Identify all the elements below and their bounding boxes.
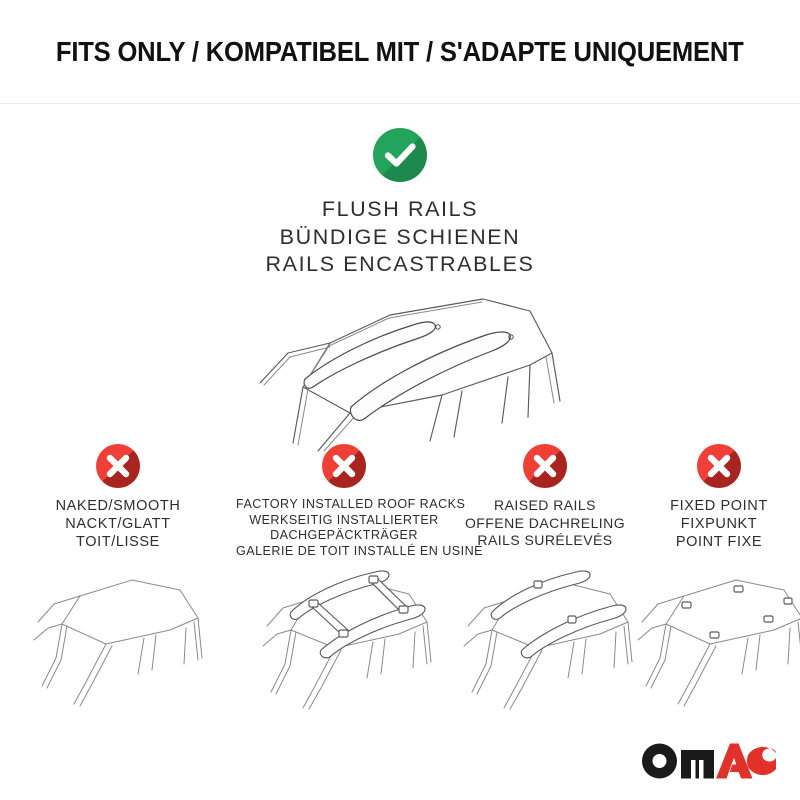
item-labels: FACTORY INSTALLED ROOF RACKS WERKSEITIG … <box>236 497 452 560</box>
item-labels: NAKED/SMOOTH NACKT/GLATT TOIT/LISSE <box>0 497 236 551</box>
car-roof-fixed-point-illustration <box>638 562 800 717</box>
omac-logo-letter-o <box>642 744 677 779</box>
incompatible-item-fixed-point: FIXED POINT FIXPUNKT POINT FIXE <box>638 444 800 560</box>
item-labels: RAISED RAILS OFFENE DACHRELING RAILS SUR… <box>452 497 638 550</box>
red-x-circle-icon <box>697 444 741 488</box>
header-divider <box>0 103 800 104</box>
incompatible-section: NAKED/SMOOTH NACKT/GLATT TOIT/LISSE <box>0 444 800 560</box>
incompatible-item-factory-roof-racks: FACTORY INSTALLED ROOF RACKS WERKSEITIG … <box>236 444 452 560</box>
item-label-de: NACKT/GLATT <box>0 515 236 533</box>
incompatible-item-naked-smooth: NAKED/SMOOTH NACKT/GLATT TOIT/LISSE <box>0 444 236 560</box>
green-check-circle-icon <box>373 128 427 182</box>
compatible-labels: FLUSH RAILS BÜNDIGE SCHIENEN RAILS ENCAS… <box>0 196 800 279</box>
item-label-de-1: WERKSEITIG INSTALLIERTER <box>236 513 452 529</box>
item-label-de: FIXPUNKT <box>638 515 800 533</box>
compatible-label-en: FLUSH RAILS <box>0 196 800 224</box>
omac-logo: OM AC <box>638 740 778 782</box>
item-label-en: NAKED/SMOOTH <box>0 497 236 515</box>
item-label-en: FACTORY INSTALLED ROOF RACKS <box>236 497 452 513</box>
red-x-circle-icon <box>96 444 140 488</box>
red-x-circle-icon <box>322 444 366 488</box>
item-label-en: FIXED POINT <box>638 497 800 515</box>
item-label-fr: POINT FIXE <box>638 533 800 551</box>
red-x-circle-icon <box>523 444 567 488</box>
page-title: FITS ONLY / KOMPATIBEL MIT / S'ADAPTE UN… <box>56 38 744 66</box>
car-roof-flush-rails-illustration <box>0 291 800 451</box>
item-label-de: OFFENE DACHRELING <box>452 515 638 533</box>
car-roof-naked-smooth-illustration <box>0 562 236 717</box>
item-labels: FIXED POINT FIXPUNKT POINT FIXE <box>638 497 800 551</box>
item-label-en: RAISED RAILS <box>452 497 638 515</box>
omac-logo-letter-m <box>681 750 714 779</box>
car-roof-raised-rails-illustration <box>452 554 638 714</box>
compatible-section: FLUSH RAILS BÜNDIGE SCHIENEN RAILS ENCAS… <box>0 128 800 451</box>
compatible-label-fr: RAILS ENCASTRABLES <box>0 251 800 279</box>
car-roof-factory-roof-racks-illustration <box>236 554 452 714</box>
incompatible-item-raised-rails: RAISED RAILS OFFENE DACHRELING RAILS SUR… <box>452 444 638 560</box>
item-label-de-2: DACHGEPÄCKTRÄGER <box>236 528 452 544</box>
item-label-fr: TOIT/LISSE <box>0 533 236 551</box>
compatible-label-de: BÜNDIGE SCHIENEN <box>0 224 800 252</box>
item-label-fr: RAILS SURÉLEVÉS <box>452 532 638 550</box>
page-header: FITS ONLY / KOMPATIBEL MIT / S'ADAPTE UN… <box>0 0 800 104</box>
omac-logo-letter-c <box>747 747 776 775</box>
